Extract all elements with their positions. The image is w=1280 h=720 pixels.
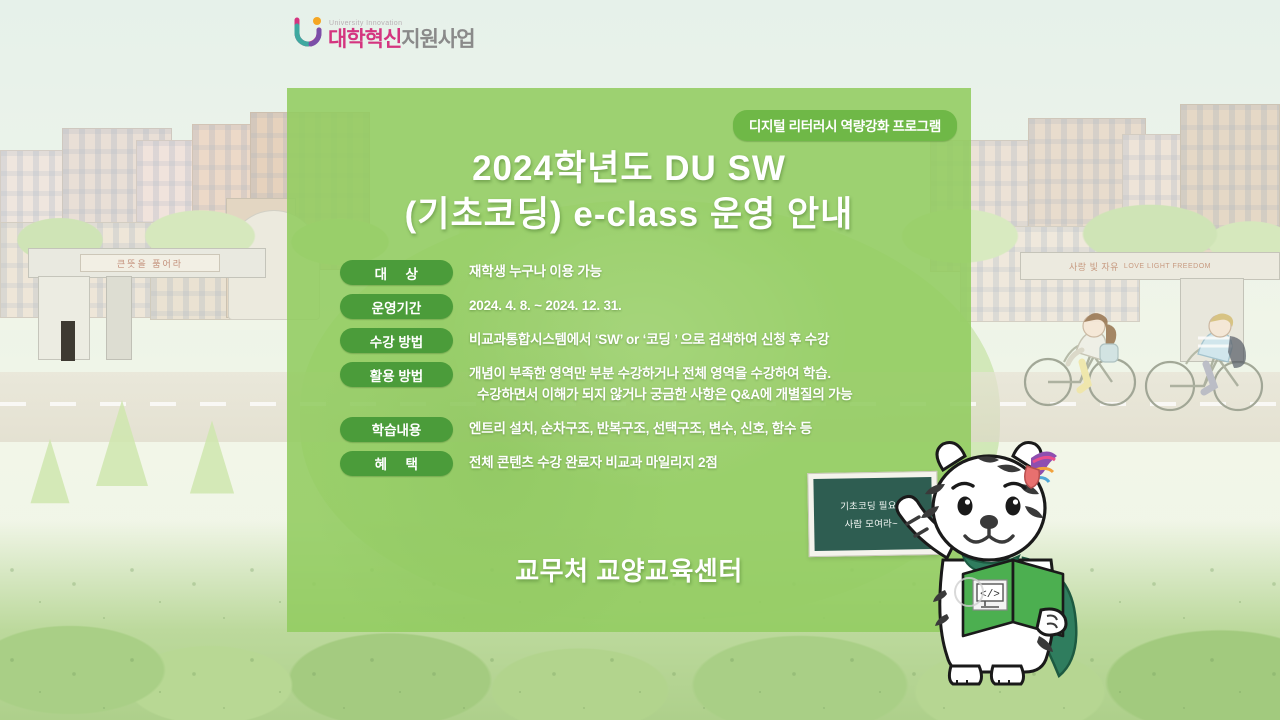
info-rows: 대상 재학생 누구나 이용 가능 운영기간 2024. 4. 8. ~ 2024… [340, 260, 940, 485]
info-row-value-howto: 비교과통합시스템에서 ‘SW’ or ‘코딩 ’ 으로 검색하여 신청 후 수강 [469, 328, 940, 351]
info-row-label-period: 운영기간 [340, 294, 453, 319]
conifer-tree [96, 400, 148, 486]
info-row-value-benefit: 전체 콘텐츠 수강 완료자 비교과 마일리지 2점 [469, 451, 940, 474]
footer-organization: 교무처 교양교육센터 [287, 551, 971, 588]
logo-korean-text: 대학혁신지원사업 [328, 29, 475, 50]
university-innovation-logo: University Innovation 대학혁신지원사업 [293, 14, 475, 50]
white-tiger-mascot: </> [885, 440, 1115, 700]
info-row: 대상 재학생 누구나 이용 가능 [340, 260, 940, 285]
logo-english-text: University Innovation [329, 20, 475, 27]
gate-left-plaque: 큰뜻을 품어라 [80, 254, 220, 272]
gate-right-plaque-en: LOVE LIGHT FREEDOM [1124, 263, 1211, 270]
info-row-label-howto: 수강 방법 [340, 328, 453, 353]
info-row: 수강 방법 비교과통합시스템에서 ‘SW’ or ‘코딩 ’ 으로 검색하여 신… [340, 328, 940, 353]
info-row: 활용 방법 개념이 부족한 영역만 부분 수강하거나 전체 영역을 수강하여 학… [340, 362, 940, 406]
title-line-2: (기초코딩) e-class 운영 안내 [287, 192, 971, 238]
info-row-label-usage: 활용 방법 [340, 362, 453, 387]
info-row-value-target: 재학생 누구나 이용 가능 [469, 260, 940, 283]
usage-line-1: 개념이 부족한 영역만 부분 수강하거나 전체 영역을 수강하여 학습. [469, 366, 831, 381]
cyclist-left [1020, 300, 1140, 410]
program-badge: 디지털 리터러시 역량강화 프로그램 [733, 110, 957, 141]
gate-right-plaque-ko: 사랑 빛 자유 [1069, 260, 1119, 273]
title-line-1: 2024학년도 DU SW [287, 146, 971, 192]
university-innovation-logo-icon [293, 14, 323, 50]
info-row-label-target: 대상 [340, 260, 453, 285]
poster-canvas: 큰뜻을 품어라 사랑 빛 자유 LOVE LIGHT FREEDOM [0, 0, 1280, 720]
logo-korean-accent: 대학혁신 [328, 28, 401, 51]
logo-korean-rest: 지원사업 [401, 28, 474, 51]
page-title: 2024학년도 DU SW (기초코딩) e-class 운영 안내 [287, 146, 971, 238]
info-row-value-period: 2024. 4. 8. ~ 2024. 12. 31. [469, 294, 940, 317]
info-row-label-content: 학습내용 [340, 417, 453, 442]
info-row: 학습내용 엔트리 설치, 순차구조, 반복구조, 선택구조, 변수, 신호, 함… [340, 417, 940, 442]
info-row-value-content: 엔트리 설치, 순차구조, 반복구조, 선택구조, 변수, 신호, 함수 등 [469, 417, 940, 440]
info-row-value-usage: 개념이 부족한 영역만 부분 수강하거나 전체 영역을 수강하여 학습. 수강하… [469, 362, 940, 406]
cyclist-right [1140, 300, 1270, 415]
campus-gate-left: 큰뜻을 품어라 [28, 248, 266, 360]
usage-line-2: 수강하면서 이해가 되지 않거나 궁금한 사항은 Q&A에 개별질의 가능 [469, 385, 940, 406]
info-row: 운영기간 2024. 4. 8. ~ 2024. 12. 31. [340, 294, 940, 319]
info-row-label-benefit: 혜택 [340, 451, 453, 476]
conifer-tree [190, 420, 234, 493]
conifer-tree [31, 439, 70, 504]
